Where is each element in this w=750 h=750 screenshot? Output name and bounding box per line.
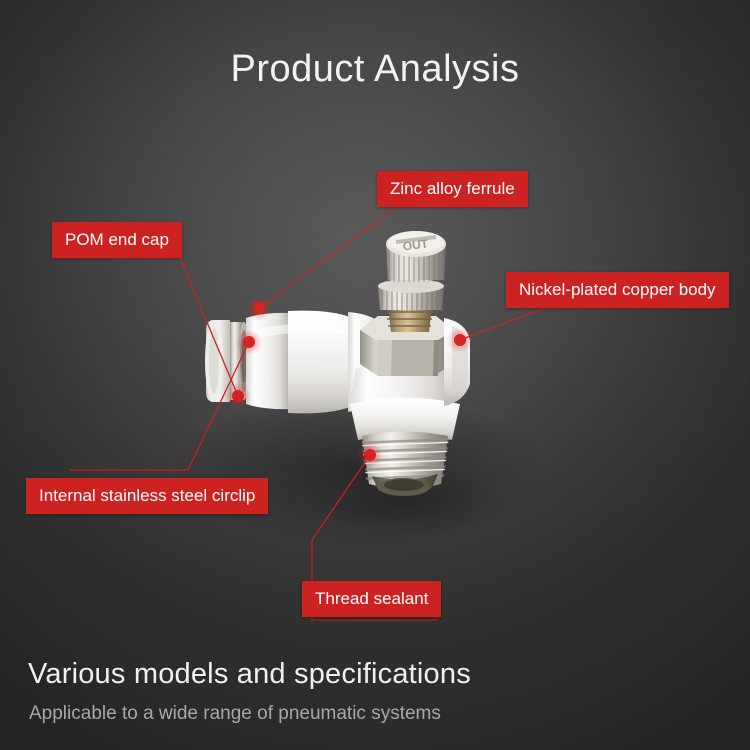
- dot-internal-stainless-steel-circlip: [243, 336, 255, 348]
- dot-zinc-alloy-ferrule: [253, 302, 265, 314]
- footer-subline: Applicable to a wide range of pneumatic …: [29, 703, 441, 725]
- product-analysis-infographic: OUT: [0, 0, 750, 750]
- dot-thread-sealant: [364, 449, 376, 461]
- callout-thread-sealant: Thread sealant: [302, 581, 441, 617]
- leader-pom-end-cap: [52, 258, 238, 396]
- leader-dot-glows: [225, 295, 473, 468]
- callout-pom-end-cap: POM end cap: [52, 222, 182, 258]
- leader-internal-stainless-steel-circlip: [70, 342, 249, 470]
- callout-leader-lines: [0, 0, 750, 750]
- callout-zinc-alloy-ferrule: Zinc alloy ferrule: [377, 171, 528, 207]
- background-vignette: [0, 0, 750, 750]
- dot-nickel-plated-copper-body: [454, 334, 466, 346]
- dot-pom-end-cap: [232, 390, 244, 402]
- product-image: OUT: [0, 0, 750, 750]
- knob-out-marking: OUT: [402, 236, 430, 253]
- leader-zinc-alloy-ferrule: [259, 207, 527, 308]
- callout-internal-stainless-steel-circlip: Internal stainless steel circlip: [26, 478, 268, 514]
- callout-nickel-plated-copper-body: Nickel-plated copper body: [506, 272, 729, 308]
- footer-headline: Various models and specifications: [28, 658, 471, 691]
- leader-dots: [232, 302, 466, 461]
- leader-nickel-plated-copper-body: [460, 308, 722, 340]
- page-title: Product Analysis: [0, 48, 750, 91]
